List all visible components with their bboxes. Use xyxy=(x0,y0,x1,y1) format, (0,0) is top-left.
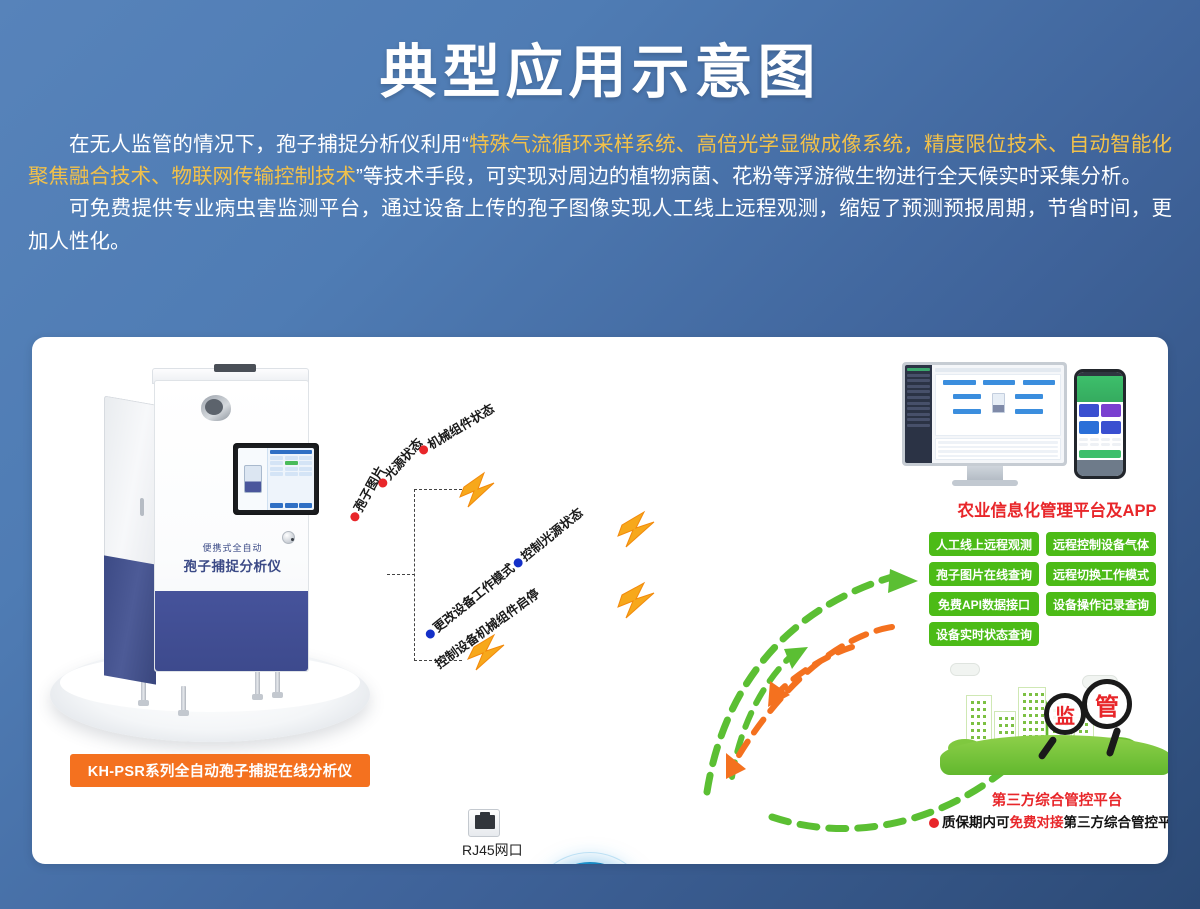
warranty-note: 质保期内可免费对接第三方综合管控平台 xyxy=(912,811,1168,831)
mobile-phone xyxy=(1074,369,1126,479)
device-caption-banner: KH-PSR系列全自动孢子捕捉在线分析仪 xyxy=(70,754,370,787)
ethernet-port-icon xyxy=(468,809,500,837)
device-cabinet: 便携式全自动 孢子捕捉分析仪 xyxy=(104,380,309,672)
warranty-bullet-icon xyxy=(929,818,939,828)
device-side-panel-lower xyxy=(104,555,156,684)
spore-analyzer-device: 便携式全自动 孢子捕捉分析仪 xyxy=(42,372,387,812)
page-title: 典型应用示意图 xyxy=(0,0,1200,105)
feature-tag[interactable]: 孢子图片在线查询 xyxy=(929,562,1039,586)
monitor-sidebar xyxy=(905,365,932,463)
warranty-text-b: 第三方综合管控平台 xyxy=(1064,815,1169,830)
device-front-panel: 便携式全自动 孢子捕捉分析仪 xyxy=(154,380,309,672)
device-top-slot xyxy=(214,364,256,372)
diagram-card: 便携式全自动 孢子捕捉分析仪 KH-PSR系列全自动孢子捕捉在线分析仪 RJ45… xyxy=(32,337,1168,864)
device-base-panel xyxy=(155,591,308,671)
rj45-port: RJ45网口 xyxy=(462,809,506,860)
feature-tag-column-2: 远程控制设备气体 远程切换工作模式 设备操作记录查询 xyxy=(1046,532,1156,646)
monitor-topology-view xyxy=(935,374,1061,436)
feature-tag[interactable]: 远程切换工作模式 xyxy=(1046,562,1156,586)
feature-tag[interactable]: 人工线上远程观测 xyxy=(929,532,1039,556)
magnifier-icon-left: 监 xyxy=(1044,693,1086,735)
feature-tag-column-1: 人工线上远程观测 孢子图片在线查询 免费API数据接口 设备实时状态查询 xyxy=(929,532,1039,646)
device-brand-line-1: 便携式全自动 xyxy=(155,541,310,554)
magnifier-char-2: 管 xyxy=(1095,687,1119,722)
device-brand-text: 便携式全自动 孢子捕捉分析仪 xyxy=(155,541,310,575)
magnifier-icon-right: 管 xyxy=(1082,679,1132,729)
feature-tag[interactable]: 远程控制设备气体 xyxy=(1046,532,1156,556)
uplink-dot-1 xyxy=(349,511,361,523)
feature-tag[interactable]: 免费API数据接口 xyxy=(929,592,1039,616)
feature-tag[interactable]: 设备实时状态查询 xyxy=(929,622,1039,646)
monitor-stand xyxy=(967,466,1003,480)
desktop-monitor xyxy=(902,362,1067,487)
device-brand-line-2: 孢子捕捉分析仪 xyxy=(155,555,310,575)
monitor-base xyxy=(952,480,1018,486)
uplink-label-mechanical-status: 机械组件状态 xyxy=(412,398,497,460)
feature-tag-list: 人工线上远程观测 孢子图片在线查询 免费API数据接口 设备实时状态查询 远程控… xyxy=(929,532,1168,646)
intro-text-block: 在无人监管的情况下，孢子捕捉分析仪利用“特殊气流循环采样系统、高倍光学显微成像系… xyxy=(28,129,1172,259)
intro-p1-part-a: 在无人监管的情况下，孢子捕捉分析仪利用“ xyxy=(69,133,469,156)
intro-paragraph-1: 在无人监管的情况下，孢子捕捉分析仪利用“特殊气流循环采样系统、高倍光学显微成像系… xyxy=(28,129,1172,194)
warranty-text-a: 质保期内可 xyxy=(942,815,1010,830)
intro-p1-part-b: ”等技术手段，可实现对周边的植物病菌、花粉等浮游微生物进行全天候实时采集分析。 xyxy=(356,165,1142,188)
rj45-label: RJ45网口 xyxy=(462,840,506,860)
intro-paragraph-2: 可免费提供专业病虫害监测平台，通过设备上传的孢子图像实现人工线上远程观测，缩短了… xyxy=(28,193,1172,258)
supervision-illustration: 监 管 xyxy=(932,657,1168,797)
magnifier-char-1: 监 xyxy=(1055,700,1075,729)
monitor-data-table xyxy=(935,438,1061,460)
device-door-handle xyxy=(140,498,144,517)
feature-tag[interactable]: 设备操作记录查询 xyxy=(1046,592,1156,616)
platform-label: 农业信息化管理平台及APP xyxy=(932,497,1168,521)
warranty-text-highlight: 免费对接 xyxy=(1010,815,1064,830)
device-connector-line xyxy=(387,574,415,575)
device-touchscreen[interactable] xyxy=(233,443,319,515)
uplink-label-3-text: 机械组件状态 xyxy=(425,401,497,452)
downlink-label-2-text: 控制光源状态 xyxy=(518,506,585,564)
third-party-platform-label: 第三方综合管控平台 xyxy=(932,789,1168,810)
air-intake-icon xyxy=(201,395,231,421)
